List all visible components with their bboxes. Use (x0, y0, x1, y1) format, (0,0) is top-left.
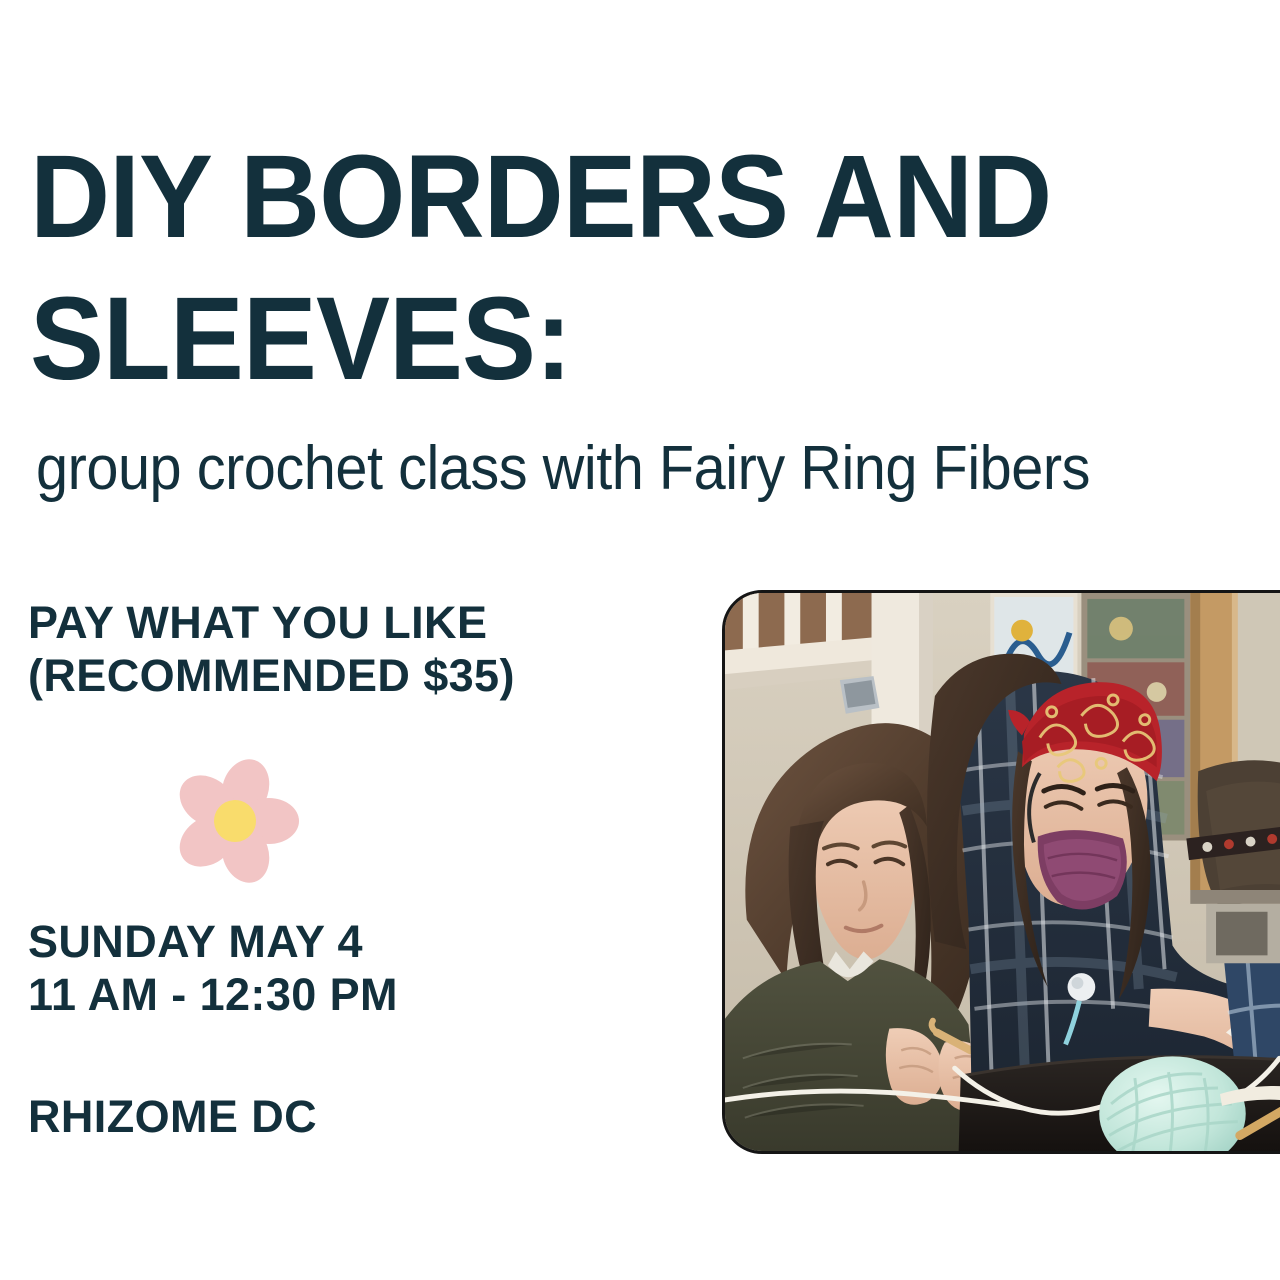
venue-text: RHIZOME DC (28, 1090, 317, 1143)
subtitle: group crochet class with Fairy Ring Fibe… (36, 432, 1208, 506)
poster-canvas: DIY BORDERS AND SLEEVES: group crochet c… (0, 0, 1280, 1280)
page-title: DIY BORDERS AND SLEEVES: (30, 126, 1083, 410)
event-photo (722, 590, 1280, 1154)
date-time-text: SUNDAY MAY 4 11 AM - 12:30 PM (28, 915, 398, 1021)
price-text: PAY WHAT YOU LIKE (RECOMMENDED $35) (28, 596, 688, 702)
info-column: PAY WHAT YOU LIKE (RECOMMENDED $35) (28, 596, 688, 702)
flower-icon (170, 756, 300, 886)
